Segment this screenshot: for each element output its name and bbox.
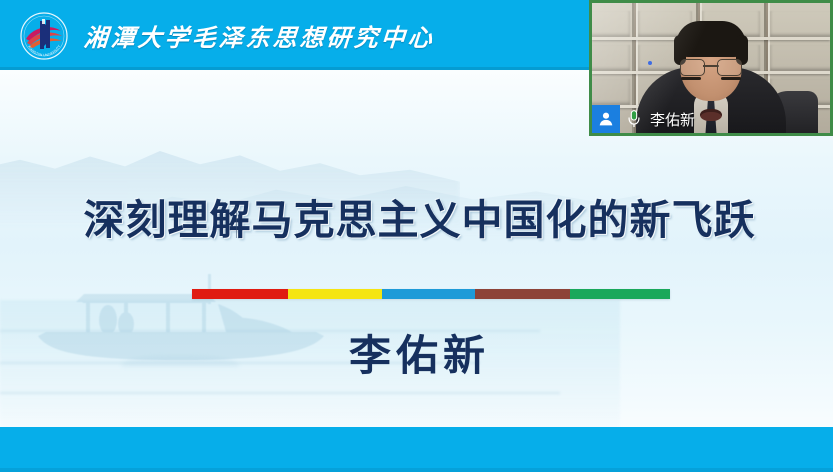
color-bar-segment-yellow [288, 289, 382, 299]
books-row [770, 11, 830, 37]
background-blue-light [648, 61, 652, 65]
speaker-hair [676, 21, 746, 57]
lens-left [680, 59, 705, 76]
participant-video-tile[interactable]: 李佑新 [589, 0, 833, 136]
color-bar-segment-green [570, 289, 670, 299]
water-ripple [0, 392, 560, 394]
xiangtan-university-emblem-icon: XIANGTAN UNIVERSITY [18, 11, 70, 61]
presentation-screen: 深刻理解马克思主义中国化的新飞跃 李佑新 [0, 0, 833, 472]
organization-name: 湘潭大学毛泽东思想研究中心 [83, 18, 436, 53]
slide-title: 深刻理解马克思主义中国化的新飞跃 [0, 186, 833, 246]
color-bar-segment-red [192, 289, 288, 299]
books-row [592, 11, 630, 37]
participant-name-overlay: 李佑新 [592, 105, 695, 133]
microphone-glyph [626, 109, 642, 129]
eyeglasses-icon [680, 59, 742, 75]
eyebrow-right [721, 77, 741, 80]
books-row [770, 45, 830, 71]
decorative-color-bar [192, 289, 670, 299]
person-avatar-icon [592, 105, 620, 133]
slide-speaker-name: 李佑新 [0, 322, 833, 383]
avatar-glyph [597, 110, 615, 128]
eyebrow-left [681, 77, 701, 80]
slide-footer-bar [0, 427, 833, 472]
microphone-icon[interactable] [622, 105, 646, 133]
participant-name-label: 李佑新 [646, 109, 695, 130]
mouth [700, 109, 722, 121]
text-cursor-caret [236, 206, 237, 238]
books-row [592, 45, 630, 71]
color-bar-segment-brown [475, 289, 570, 299]
books-row [592, 79, 630, 105]
color-bar-segment-blue [382, 289, 475, 299]
lens-right [717, 59, 742, 76]
